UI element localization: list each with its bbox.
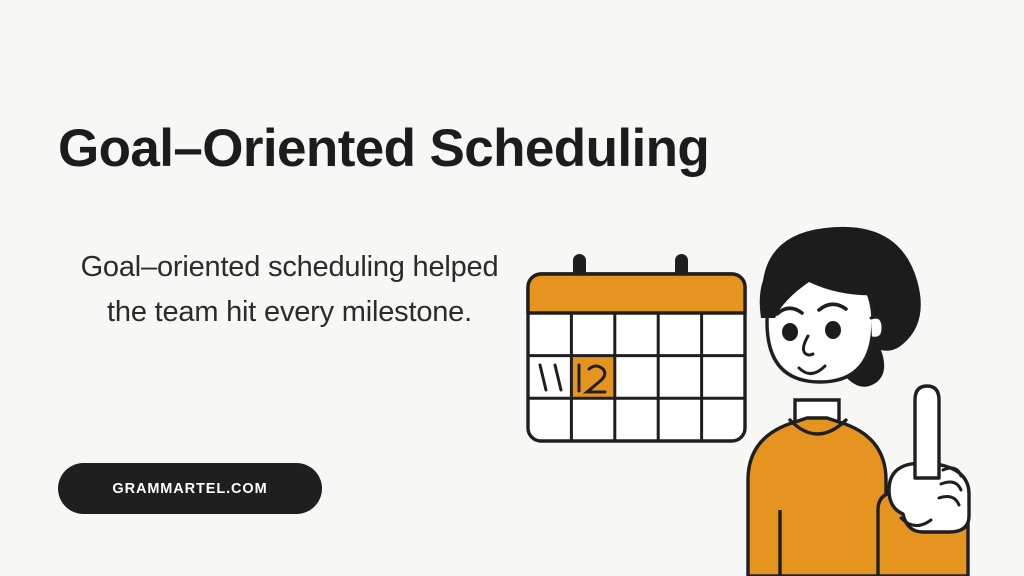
slide-canvas: Goal–Oriented Scheduling Goal–oriented s… bbox=[0, 0, 1024, 576]
person-sweater bbox=[748, 418, 886, 576]
person-eye-left bbox=[782, 323, 798, 341]
brand-badge: GRAMMARTEL.COM bbox=[58, 463, 322, 514]
person-ear bbox=[871, 317, 883, 338]
person-index-finger bbox=[915, 386, 939, 478]
person-eye-right bbox=[825, 321, 841, 339]
page-title: Goal–Oriented Scheduling bbox=[58, 118, 858, 180]
illustration-calendar-person bbox=[505, 222, 1024, 576]
illustration-svg bbox=[505, 222, 1024, 576]
brand-badge-label: GRAMMARTEL.COM bbox=[112, 481, 267, 497]
wall-calendar-icon bbox=[528, 254, 745, 441]
body-paragraph: Goal–oriented scheduling helped the team… bbox=[62, 245, 517, 335]
calendar-header-band bbox=[528, 274, 745, 313]
person-figure bbox=[748, 227, 969, 576]
